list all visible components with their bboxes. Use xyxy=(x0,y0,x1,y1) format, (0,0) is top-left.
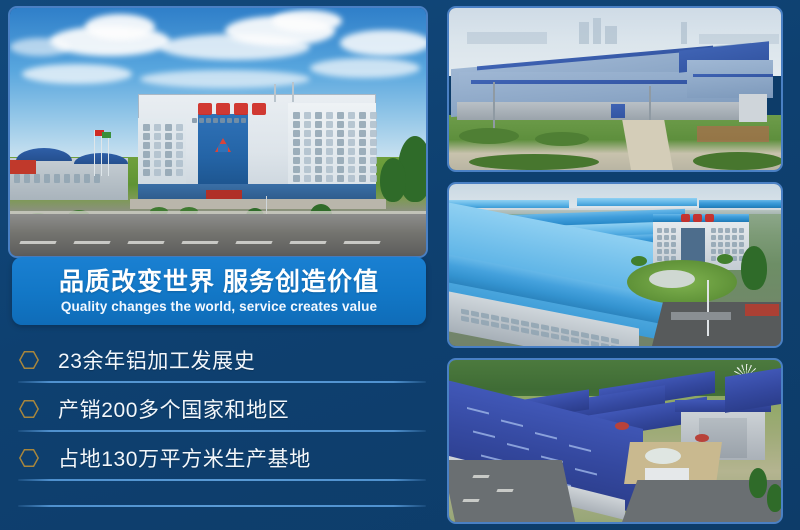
skyline-tower xyxy=(579,22,589,44)
flag xyxy=(102,132,111,138)
feature-list: 23余年铝加工发展史 产销200多个国家和地区 占地130万平方米生产基地 xyxy=(0,333,440,530)
road-marking xyxy=(127,241,164,244)
hedge xyxy=(469,154,599,170)
parking-lot xyxy=(697,126,769,142)
roof-mast xyxy=(292,82,294,102)
flagpole xyxy=(108,134,109,176)
gallery-image-frame-3 xyxy=(447,358,783,524)
factory-rendering-photo xyxy=(449,360,781,522)
workshop-windows xyxy=(14,174,100,183)
slogan-chinese: 品质改变世界 服务创造价值 xyxy=(59,268,379,296)
road-marking xyxy=(73,241,110,244)
bush xyxy=(717,254,733,264)
skyline-tower xyxy=(593,18,601,44)
bush xyxy=(631,256,647,266)
road-marking xyxy=(343,241,380,244)
distant-workshop xyxy=(577,198,697,206)
vehicle xyxy=(745,304,779,316)
corporate-headquarters-photo xyxy=(10,8,426,256)
rooftop-sign-character xyxy=(681,214,690,222)
hexagon-icon xyxy=(18,447,40,469)
distant-workshop xyxy=(699,200,781,208)
tree xyxy=(767,484,781,512)
building-base-band xyxy=(138,184,376,199)
list-divider xyxy=(18,505,426,507)
feature-label: 产销200多个国家和地区 xyxy=(58,394,289,424)
building-windows xyxy=(192,118,246,123)
hexagon-icon xyxy=(18,398,40,420)
hedge xyxy=(535,132,589,146)
skyline-tower xyxy=(605,26,617,44)
building-windows xyxy=(293,112,377,182)
fountain xyxy=(649,270,695,288)
list-item: 产销200多个国家和地区 xyxy=(18,386,426,431)
road-marking xyxy=(181,241,218,244)
flagpole xyxy=(101,132,102,176)
road-marking xyxy=(472,475,489,478)
factory-door xyxy=(611,104,625,118)
factory-annex xyxy=(739,94,767,122)
office-windows xyxy=(657,228,676,261)
factory-roof xyxy=(687,60,773,98)
list-divider xyxy=(18,430,426,432)
factory-roof-ridge xyxy=(471,80,717,84)
fountain xyxy=(645,448,681,464)
slogan-english: Quality changes the world, service creat… xyxy=(61,299,377,314)
cloud-shape xyxy=(140,70,310,88)
road-marking xyxy=(235,241,272,244)
skyline-tower xyxy=(681,22,687,44)
rooftop-sign-character xyxy=(705,214,714,222)
road-marking xyxy=(289,241,326,244)
cloud-shape xyxy=(310,58,420,78)
factory-workshops-office-photo xyxy=(449,184,781,346)
cloud-shape xyxy=(22,64,132,84)
roof-mast xyxy=(274,84,276,102)
feature-label: 占地130万平方米生产基地 xyxy=(58,443,311,473)
factory-roof-ridge xyxy=(693,74,773,77)
road-marking xyxy=(496,489,513,492)
cloud-shape xyxy=(340,30,426,56)
gallery-image-frame-2 xyxy=(447,182,783,348)
list-item: 23余年铝加工发展史 xyxy=(18,337,426,382)
promotional-banner-page: 品质改变世界 服务创造价值 Quality changes the world,… xyxy=(0,0,800,530)
hero-image-frame xyxy=(8,6,428,258)
road-marking xyxy=(19,241,56,244)
skyline-block xyxy=(467,32,547,44)
road-marking xyxy=(462,499,479,502)
factory-wall xyxy=(457,102,757,120)
power-pylon xyxy=(493,82,495,130)
flower-bed xyxy=(615,422,629,430)
tree xyxy=(749,468,767,498)
list-item: 占地130万平方米生产基地 xyxy=(18,435,426,480)
hedge xyxy=(693,152,781,170)
list-divider xyxy=(18,381,426,383)
flagpole xyxy=(94,130,95,176)
aerial-factory-complex-photo xyxy=(449,8,781,170)
tree xyxy=(741,246,767,290)
feature-label: 23余年铝加工发展史 xyxy=(58,345,255,375)
cloud-shape xyxy=(85,14,155,40)
flower-bed xyxy=(695,434,709,442)
workshop-accent xyxy=(10,160,36,174)
cloud-shape xyxy=(10,38,70,56)
rooftop-sign-character xyxy=(693,214,702,222)
tree xyxy=(380,158,406,202)
slogan-banner: 品质改变世界 服务创造价值 Quality changes the world,… xyxy=(12,257,426,325)
cloud-shape xyxy=(272,10,342,32)
road-surface xyxy=(10,214,426,256)
rooftop-company-sign xyxy=(198,103,278,115)
gallery-image-frame-1 xyxy=(447,6,783,172)
hexagon-icon xyxy=(18,349,40,371)
list-divider xyxy=(18,479,426,481)
building-windows xyxy=(143,124,183,176)
flagpole xyxy=(707,280,709,336)
vehicle xyxy=(671,312,731,320)
hedge xyxy=(459,128,519,144)
